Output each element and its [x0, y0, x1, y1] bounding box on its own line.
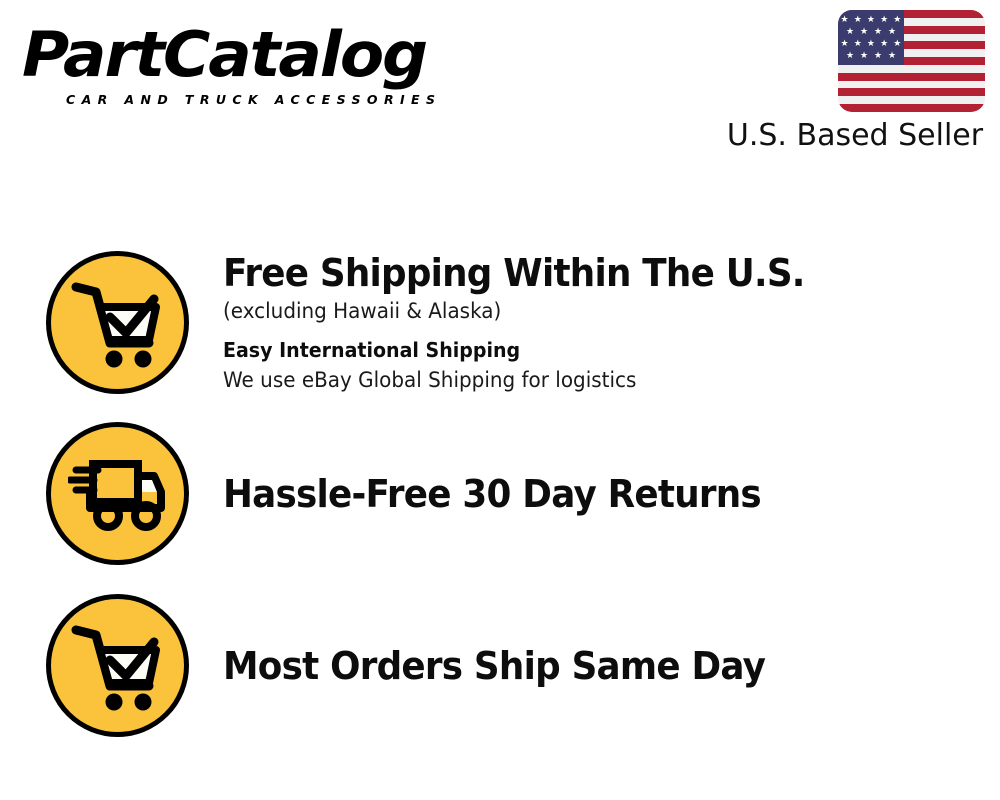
delivery-truck-icon [46, 422, 189, 565]
shopping-cart-check-icon [46, 594, 189, 737]
flag-star-row: ★★★★ [843, 51, 899, 60]
flag-star-row: ★★★★★ [838, 15, 904, 24]
feature-row: Most Orders Ship Same Day [0, 593, 1000, 738]
feature-title: Most Orders Ship Same Day [223, 644, 935, 688]
feature-text-block: Hassle-Free 30 Day Returns [223, 472, 1000, 516]
feature-sub-detail: We use eBay Global Shipping for logistic… [223, 365, 942, 395]
feature-row: Hassle-Free 30 Day Returns [0, 421, 1000, 566]
feature-text-block: Most Orders Ship Same Day [223, 644, 1000, 688]
feature-subtitle: (excluding Hawaii & Alaska) [223, 296, 942, 326]
us-based-seller-label: U.S. Based Seller [724, 118, 986, 154]
flag-star-row: ★★★★★ [838, 39, 904, 48]
united-states-flag-icon: ★★★★★ ★★★★ ★★★★★ ★★★★ [838, 10, 985, 112]
flag-canton: ★★★★★ ★★★★ ★★★★★ ★★★★ [838, 10, 904, 65]
feature-row: Free Shipping Within The U.S. (excluding… [0, 250, 1000, 395]
feature-title: Free Shipping Within The U.S. [223, 251, 935, 295]
feature-sub-heading: Easy International Shipping [223, 335, 942, 365]
shopping-cart-check-icon [46, 251, 189, 394]
brand-tagline: CAR AND TRUCK ACCESSORIES [66, 92, 441, 107]
brand-logo[interactable]: PartCatalog CAR AND TRUCK ACCESSORIES [22, 22, 492, 112]
flag-star-row: ★★★★ [843, 27, 899, 36]
brand-wordmark: PartCatalog [22, 22, 511, 88]
feature-title: Hassle-Free 30 Day Returns [223, 472, 935, 516]
page-header: PartCatalog CAR AND TRUCK ACCESSORIES ★★… [0, 0, 1000, 175]
feature-text-block: Free Shipping Within The U.S. (excluding… [223, 251, 1000, 395]
